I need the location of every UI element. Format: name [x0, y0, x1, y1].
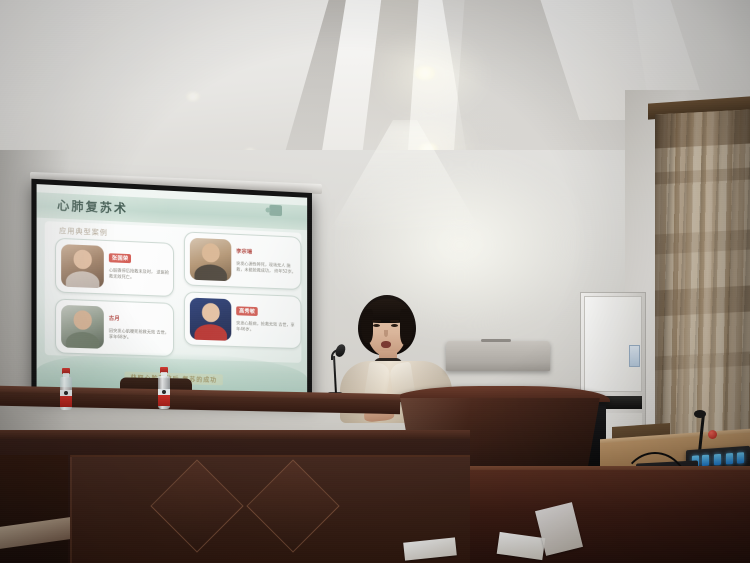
case-desc-1: 心脏骤停后抢救未及时， 送医抢救无效死亡。 — [109, 267, 169, 281]
diamond-relief — [246, 459, 339, 552]
cabinet-door[interactable] — [584, 296, 642, 392]
diamond-relief — [150, 459, 243, 552]
laptop-hinge — [481, 339, 511, 342]
case-name-2: 李宗瑞 — [236, 249, 252, 256]
portrait-photo-2 — [190, 238, 231, 282]
presentation-logo-icon — [269, 205, 282, 216]
foreground-rail — [0, 430, 470, 439]
slide-surface: 心肺复苏术 应用典型案例 张国荣 心脏骤停后抢救未及时， 送医抢救无效死 — [37, 184, 308, 397]
secondary-microphone-icon[interactable] — [694, 410, 706, 418]
water-bottle-left[interactable] — [60, 368, 72, 410]
case-card-4[interactable]: 高秀敏 突发心脏病，抢救无效 去世，享年46岁。 — [184, 291, 301, 349]
presenter-nose — [384, 330, 388, 337]
slide-subheading: 应用典型案例 — [59, 226, 108, 238]
case-desc-3: 因突发心肌梗死抢救无效 去世，享年68岁。 — [109, 328, 169, 342]
slide-content-area: 应用典型案例 张国荣 心脏骤停后抢救未及时， 送医抢救无效死亡。 — [45, 221, 302, 363]
case-name-1: 张国荣 — [109, 253, 132, 263]
ceiling-downlight-1 — [414, 66, 436, 80]
case-name-3: 古月 — [109, 316, 120, 322]
presenter-laptop[interactable] — [446, 341, 550, 371]
presenter-hair-right — [400, 309, 413, 345]
striped-tan-curtain — [655, 110, 750, 445]
presenter-brow-left — [372, 320, 381, 322]
presenter-eye-right — [391, 324, 398, 327]
lecture-hall-scene: 心肺复苏术 应用典型案例 张国荣 心脏骤停后抢救未及时， 送医抢救无效死 — [0, 0, 750, 563]
portrait-photo-3 — [61, 305, 104, 349]
bottle-label — [158, 389, 170, 406]
presenter-eye-left — [373, 324, 380, 327]
case-name-4: 高秀敏 — [236, 306, 258, 316]
case-desc-2: 突发心源性猝死，现场无人 施救，未能抢救成功， 终年52岁。 — [236, 261, 296, 275]
cabinet-label-sticker — [629, 345, 640, 367]
presenter-hair-left — [361, 309, 373, 343]
case-card-2[interactable]: 李宗瑞 突发心源性猝死，现场无人 施救，未能抢救成功， 终年52岁。 — [184, 231, 301, 290]
water-bottle-right[interactable] — [158, 367, 170, 409]
case-card-1[interactable]: 张国荣 心脏骤停后抢救未及时， 送医抢救无效死亡。 — [55, 238, 174, 297]
presenter-brow-right — [390, 320, 399, 322]
ceiling-downlight-3 — [186, 92, 200, 101]
presenter-mouth — [381, 341, 391, 348]
case-card-3[interactable]: 古月 因突发心肌梗死抢救无效 去世，享年68岁。 — [55, 299, 174, 357]
case-desc-4: 突发心脏病，抢救无效 去世，享年46岁。 — [236, 320, 296, 334]
bottle-label — [60, 390, 72, 407]
blue-led-segment — [726, 453, 733, 464]
blue-led-segment — [737, 452, 744, 463]
projection-screen[interactable]: 心肺复苏术 应用典型案例 张国荣 心脏骤停后抢救未及时， 送医抢救无效死 — [31, 179, 312, 402]
slide-title: 心肺复苏术 — [57, 196, 128, 217]
blue-led-segment — [714, 454, 721, 465]
red-indicator-knob[interactable] — [708, 430, 717, 439]
portrait-photo-1 — [61, 244, 104, 288]
blue-led-segment — [702, 455, 709, 466]
portrait-photo-4 — [190, 298, 231, 341]
